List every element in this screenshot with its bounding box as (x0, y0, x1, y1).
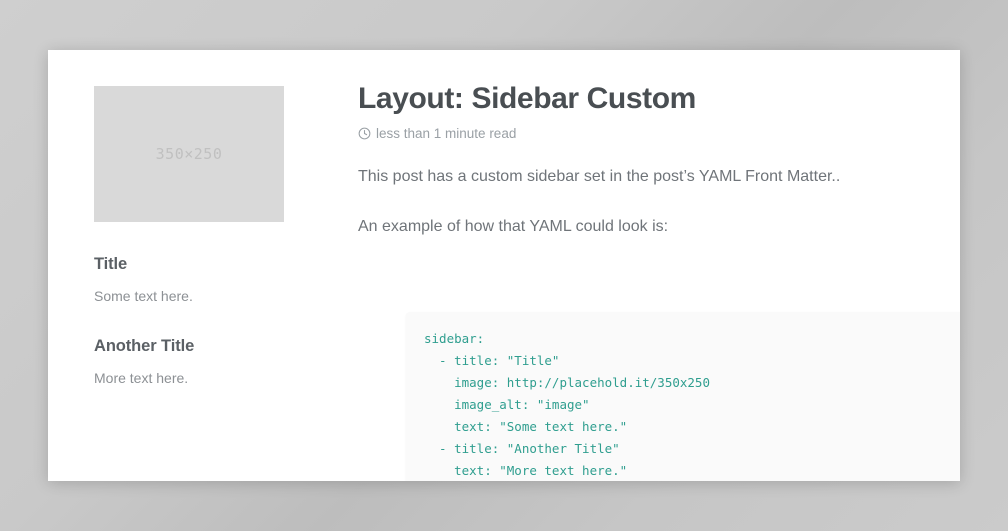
code-line: image_alt: "image" (424, 394, 960, 416)
code-lines: sidebar: - title: "Title" image: http://… (424, 328, 960, 481)
post-meta: less than 1 minute read (358, 126, 960, 141)
yaml-code-block[interactable]: sidebar: - title: "Title" image: http://… (406, 312, 960, 481)
code-line: - title: "Title" (424, 350, 960, 372)
sidebar-block-1: Title Some text here. (94, 255, 304, 307)
post-paragraph-2: An example of how that YAML could look i… (358, 215, 960, 239)
code-line: text: "More text here." (424, 460, 960, 481)
post-sidebar: 350×250 Title Some text here. Another Ti… (94, 86, 304, 388)
code-line: - title: "Another Title" (424, 438, 960, 460)
page-title: Layout: Sidebar Custom (358, 82, 960, 117)
code-content: sidebar: - title: "Title" image: http://… (424, 328, 960, 481)
sidebar-image-size-label: 350×250 (156, 145, 223, 163)
sidebar-block-text: More text here. (94, 369, 304, 389)
post-card: 350×250 Title Some text here. Another Ti… (48, 50, 960, 481)
clock-icon (358, 127, 371, 140)
post-paragraph-1: This post has a custom sidebar set in th… (358, 165, 960, 189)
sidebar-image: 350×250 (94, 86, 284, 222)
read-time-label: less than 1 minute read (376, 126, 516, 141)
post-main: Layout: Sidebar Custom less than 1 minut… (358, 82, 960, 239)
sidebar-block-title: Title (94, 255, 304, 274)
sidebar-block-text: Some text here. (94, 287, 304, 307)
code-line: image: http://placehold.it/350x250 (424, 372, 960, 394)
code-line: sidebar: (424, 328, 960, 350)
sidebar-block-2: Another Title More text here. (94, 337, 304, 389)
code-line: text: "Some text here." (424, 416, 960, 438)
sidebar-block-title: Another Title (94, 337, 304, 356)
